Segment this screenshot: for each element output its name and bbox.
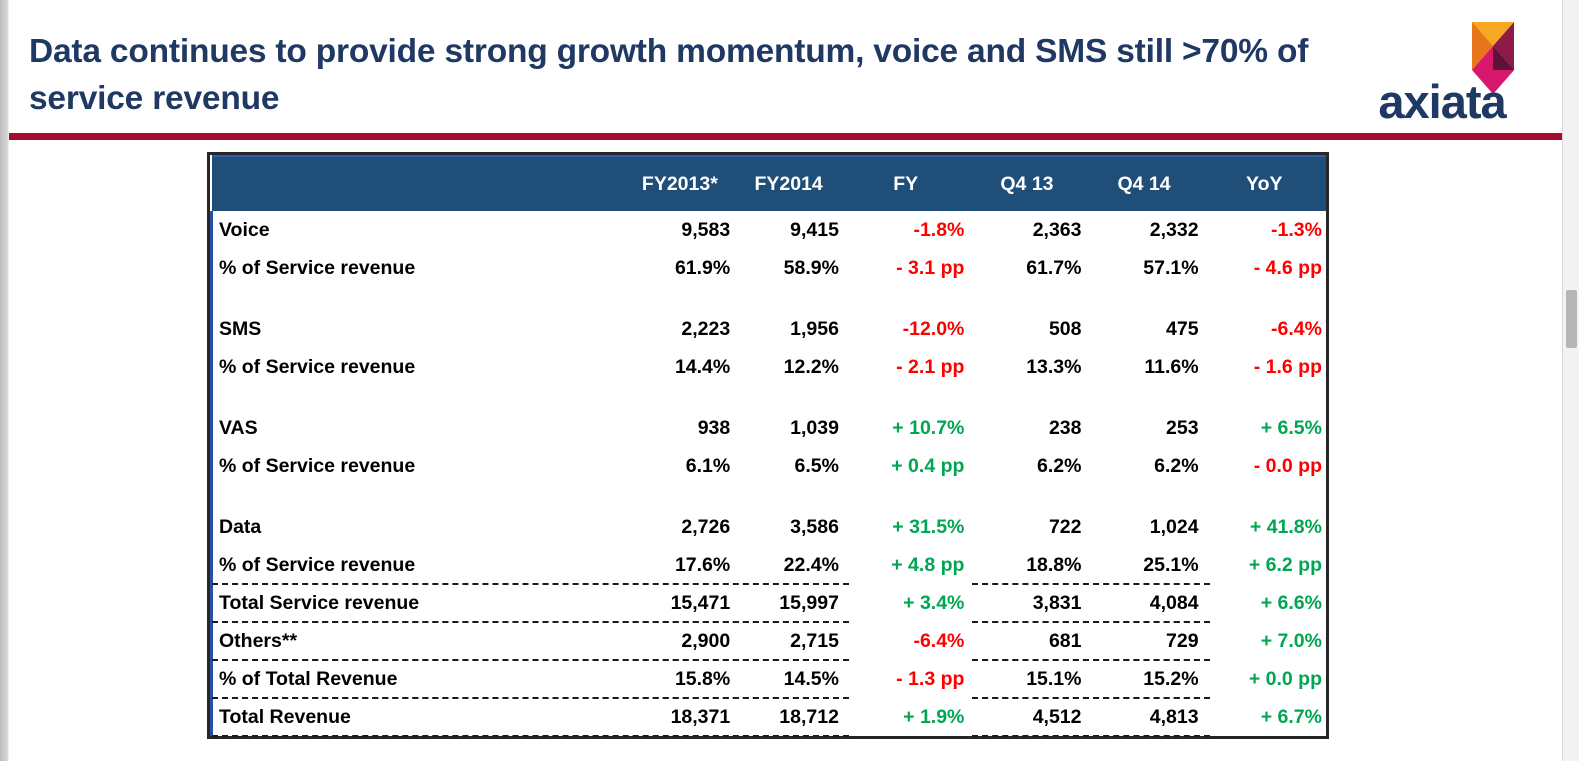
table-row: SMS2,2231,956-12.0%508475-6.4% — [212, 310, 1327, 348]
cell-fy2014: 12.2% — [734, 348, 843, 386]
col-header-q413: Q4 13 — [968, 156, 1085, 211]
spacer-cell — [734, 287, 843, 310]
cell-fy-change: + 31.5% — [843, 508, 968, 546]
spacer-cell — [968, 485, 1085, 508]
cell-yoy-change: + 6.6% — [1203, 584, 1326, 622]
cell-q413: 15.1% — [968, 660, 1085, 698]
cell-q414: 57.1% — [1086, 249, 1203, 287]
cell-q414: 4,084 — [1086, 584, 1203, 622]
scrollbar-thumb[interactable] — [1566, 290, 1577, 348]
row-dotted-separator — [972, 697, 1210, 699]
row-label: % of Service revenue — [212, 546, 626, 584]
cell-q414: 4,813 — [1086, 698, 1203, 736]
cell-q414: 15.2% — [1086, 660, 1203, 698]
cell-fy2014: 3,586 — [734, 508, 843, 546]
col-header-fy2014: FY2014 — [734, 156, 843, 211]
cell-q413: 18.8% — [968, 546, 1085, 584]
cell-yoy-change: -6.4% — [1203, 310, 1326, 348]
cell-fy-change: - 3.1 pp — [843, 249, 968, 287]
row-label: % of Service revenue — [212, 249, 626, 287]
row-label: % of Service revenue — [212, 348, 626, 386]
cell-fy2013: 9,583 — [626, 211, 735, 249]
cell-yoy-change: + 7.0% — [1203, 622, 1326, 660]
spacer-cell — [843, 386, 968, 409]
cell-fy-change: -12.0% — [843, 310, 968, 348]
cell-fy-change: - 2.1 pp — [843, 348, 968, 386]
table-row: % of Service revenue61.9%58.9%- 3.1 pp61… — [212, 249, 1327, 287]
cell-fy2013: 17.6% — [626, 546, 735, 584]
row-dotted-separator — [212, 621, 849, 623]
cell-fy2014: 2,715 — [734, 622, 843, 660]
row-label: VAS — [212, 409, 626, 447]
page-title: Data continues to provide strong growth … — [29, 28, 1359, 122]
table-row: VAS9381,039+ 10.7%238253+ 6.5% — [212, 409, 1327, 447]
row-label: Others** — [212, 622, 626, 660]
row-spacer — [212, 386, 1327, 409]
cell-yoy-change: -1.3% — [1203, 211, 1326, 249]
cell-fy2014: 15,997 — [734, 584, 843, 622]
cell-fy-change: + 0.4 pp — [843, 447, 968, 485]
table-row: % of Service revenue17.6%22.4%+ 4.8 pp18… — [212, 546, 1327, 584]
vertical-scrollbar[interactable] — [1562, 0, 1579, 761]
cell-fy2013: 15.8% — [626, 660, 735, 698]
cell-q414: 6.2% — [1086, 447, 1203, 485]
cell-fy2013: 61.9% — [626, 249, 735, 287]
cell-q413: 13.3% — [968, 348, 1085, 386]
spacer-cell — [626, 485, 735, 508]
spacer-cell — [1203, 386, 1326, 409]
table-row: % of Service revenue14.4%12.2%- 2.1 pp13… — [212, 348, 1327, 386]
spacer-cell — [1203, 485, 1326, 508]
cell-q413: 722 — [968, 508, 1085, 546]
spacer-cell — [1203, 287, 1326, 310]
spacer-cell — [1086, 287, 1203, 310]
spacer-cell — [1086, 386, 1203, 409]
cell-yoy-change: - 0.0 pp — [1203, 447, 1326, 485]
col-header-item — [212, 156, 626, 211]
cell-fy2013: 14.4% — [626, 348, 735, 386]
cell-fy2014: 1,039 — [734, 409, 843, 447]
row-dotted-separator — [972, 621, 1210, 623]
row-label: Voice — [212, 211, 626, 249]
cell-yoy-change: + 41.8% — [1203, 508, 1326, 546]
financial-table: FY2013* FY2014 FY Q4 13 Q4 14 YoY Voice9… — [207, 152, 1329, 739]
axiata-logo: axiata — [1354, 16, 1534, 128]
row-dotted-separator — [212, 697, 849, 699]
cell-yoy-change: - 1.6 pp — [1203, 348, 1326, 386]
cell-q414: 1,024 — [1086, 508, 1203, 546]
cell-q413: 4,512 — [968, 698, 1085, 736]
cell-q413: 238 — [968, 409, 1085, 447]
cell-yoy-change: + 0.0 pp — [1203, 660, 1326, 698]
cell-q414: 729 — [1086, 622, 1203, 660]
cell-fy-change: + 1.9% — [843, 698, 968, 736]
cell-yoy-change: - 4.6 pp — [1203, 249, 1326, 287]
cell-q413: 508 — [968, 310, 1085, 348]
table-row: Others**2,9002,715-6.4%681729+ 7.0% — [212, 622, 1327, 660]
row-label: Data — [212, 508, 626, 546]
cell-fy2014: 14.5% — [734, 660, 843, 698]
cell-fy2014: 58.9% — [734, 249, 843, 287]
table-header-row: FY2013* FY2014 FY Q4 13 Q4 14 YoY — [212, 156, 1327, 211]
cell-q413: 61.7% — [968, 249, 1085, 287]
row-label: % of Service revenue — [212, 447, 626, 485]
table-row: Data2,7263,586+ 31.5%7221,024+ 41.8% — [212, 508, 1327, 546]
row-label: Total Revenue — [212, 698, 626, 736]
spacer-cell — [212, 485, 626, 508]
header-accent-rule — [9, 133, 1562, 140]
col-header-yoy: YoY — [1203, 156, 1326, 211]
row-dotted-separator — [212, 583, 849, 585]
spacer-cell — [843, 485, 968, 508]
cell-yoy-change: + 6.7% — [1203, 698, 1326, 736]
row-dotted-separator — [212, 659, 849, 661]
spacer-cell — [1086, 485, 1203, 508]
spacer-cell — [843, 287, 968, 310]
cell-fy2014: 9,415 — [734, 211, 843, 249]
spacer-cell — [212, 386, 626, 409]
row-spacer — [212, 485, 1327, 508]
cell-fy2013: 6.1% — [626, 447, 735, 485]
col-header-fy2013: FY2013* — [626, 156, 735, 211]
cell-fy-change: + 3.4% — [843, 584, 968, 622]
cell-fy2013: 2,223 — [626, 310, 735, 348]
cell-fy2014: 18,712 — [734, 698, 843, 736]
cell-q413: 6.2% — [968, 447, 1085, 485]
row-label: % of Total Revenue — [212, 660, 626, 698]
table-row: Total Service revenue15,47115,997+ 3.4%3… — [212, 584, 1327, 622]
row-dotted-separator — [972, 735, 1210, 737]
row-label: SMS — [212, 310, 626, 348]
cell-q414: 253 — [1086, 409, 1203, 447]
table-row: % of Total Revenue15.8%14.5%- 1.3 pp15.1… — [212, 660, 1327, 698]
cell-yoy-change: + 6.2 pp — [1203, 546, 1326, 584]
cell-fy2013: 938 — [626, 409, 735, 447]
cell-fy2014: 22.4% — [734, 546, 843, 584]
table-row: % of Service revenue6.1%6.5%+ 0.4 pp6.2%… — [212, 447, 1327, 485]
cell-q414: 475 — [1086, 310, 1203, 348]
cell-q414: 25.1% — [1086, 546, 1203, 584]
slide-header: Data continues to provide strong growth … — [9, 8, 1562, 133]
cell-fy-change: -6.4% — [843, 622, 968, 660]
axiata-wordmark: axiata — [1378, 75, 1507, 128]
row-label: Total Service revenue — [212, 584, 626, 622]
cell-fy2013: 18,371 — [626, 698, 735, 736]
row-dotted-separator — [212, 735, 849, 737]
cell-fy-change: + 10.7% — [843, 409, 968, 447]
table-row: Total Revenue18,37118,712+ 1.9%4,5124,81… — [212, 698, 1327, 736]
cell-fy2013: 2,726 — [626, 508, 735, 546]
spacer-cell — [626, 287, 735, 310]
spacer-cell — [734, 485, 843, 508]
col-header-q414: Q4 14 — [1086, 156, 1203, 211]
spacer-cell — [626, 386, 735, 409]
cell-q413: 681 — [968, 622, 1085, 660]
cell-q413: 3,831 — [968, 584, 1085, 622]
table-body: Voice9,5839,415-1.8%2,3632,332-1.3%% of … — [212, 211, 1327, 736]
cell-fy-change: -1.8% — [843, 211, 968, 249]
cell-fy-change: + 4.8 pp — [843, 546, 968, 584]
cell-fy2013: 15,471 — [626, 584, 735, 622]
spacer-cell — [968, 386, 1085, 409]
cell-fy-change: - 1.3 pp — [843, 660, 968, 698]
cell-q413: 2,363 — [968, 211, 1085, 249]
spacer-cell — [212, 287, 626, 310]
cell-fy2014: 6.5% — [734, 447, 843, 485]
cell-q414: 11.6% — [1086, 348, 1203, 386]
row-dotted-separator — [972, 583, 1210, 585]
row-spacer — [212, 287, 1327, 310]
table-row: Voice9,5839,415-1.8%2,3632,332-1.3% — [212, 211, 1327, 249]
spacer-cell — [734, 386, 843, 409]
cell-yoy-change: + 6.5% — [1203, 409, 1326, 447]
row-dotted-separator — [972, 659, 1210, 661]
cell-q414: 2,332 — [1086, 211, 1203, 249]
presentation-slide: Data continues to provide strong growth … — [9, 8, 1562, 761]
cell-fy2014: 1,956 — [734, 310, 843, 348]
col-header-fy: FY — [843, 156, 968, 211]
cell-fy2013: 2,900 — [626, 622, 735, 660]
spacer-cell — [968, 287, 1085, 310]
slide-viewport: Data continues to provide strong growth … — [0, 0, 1579, 761]
